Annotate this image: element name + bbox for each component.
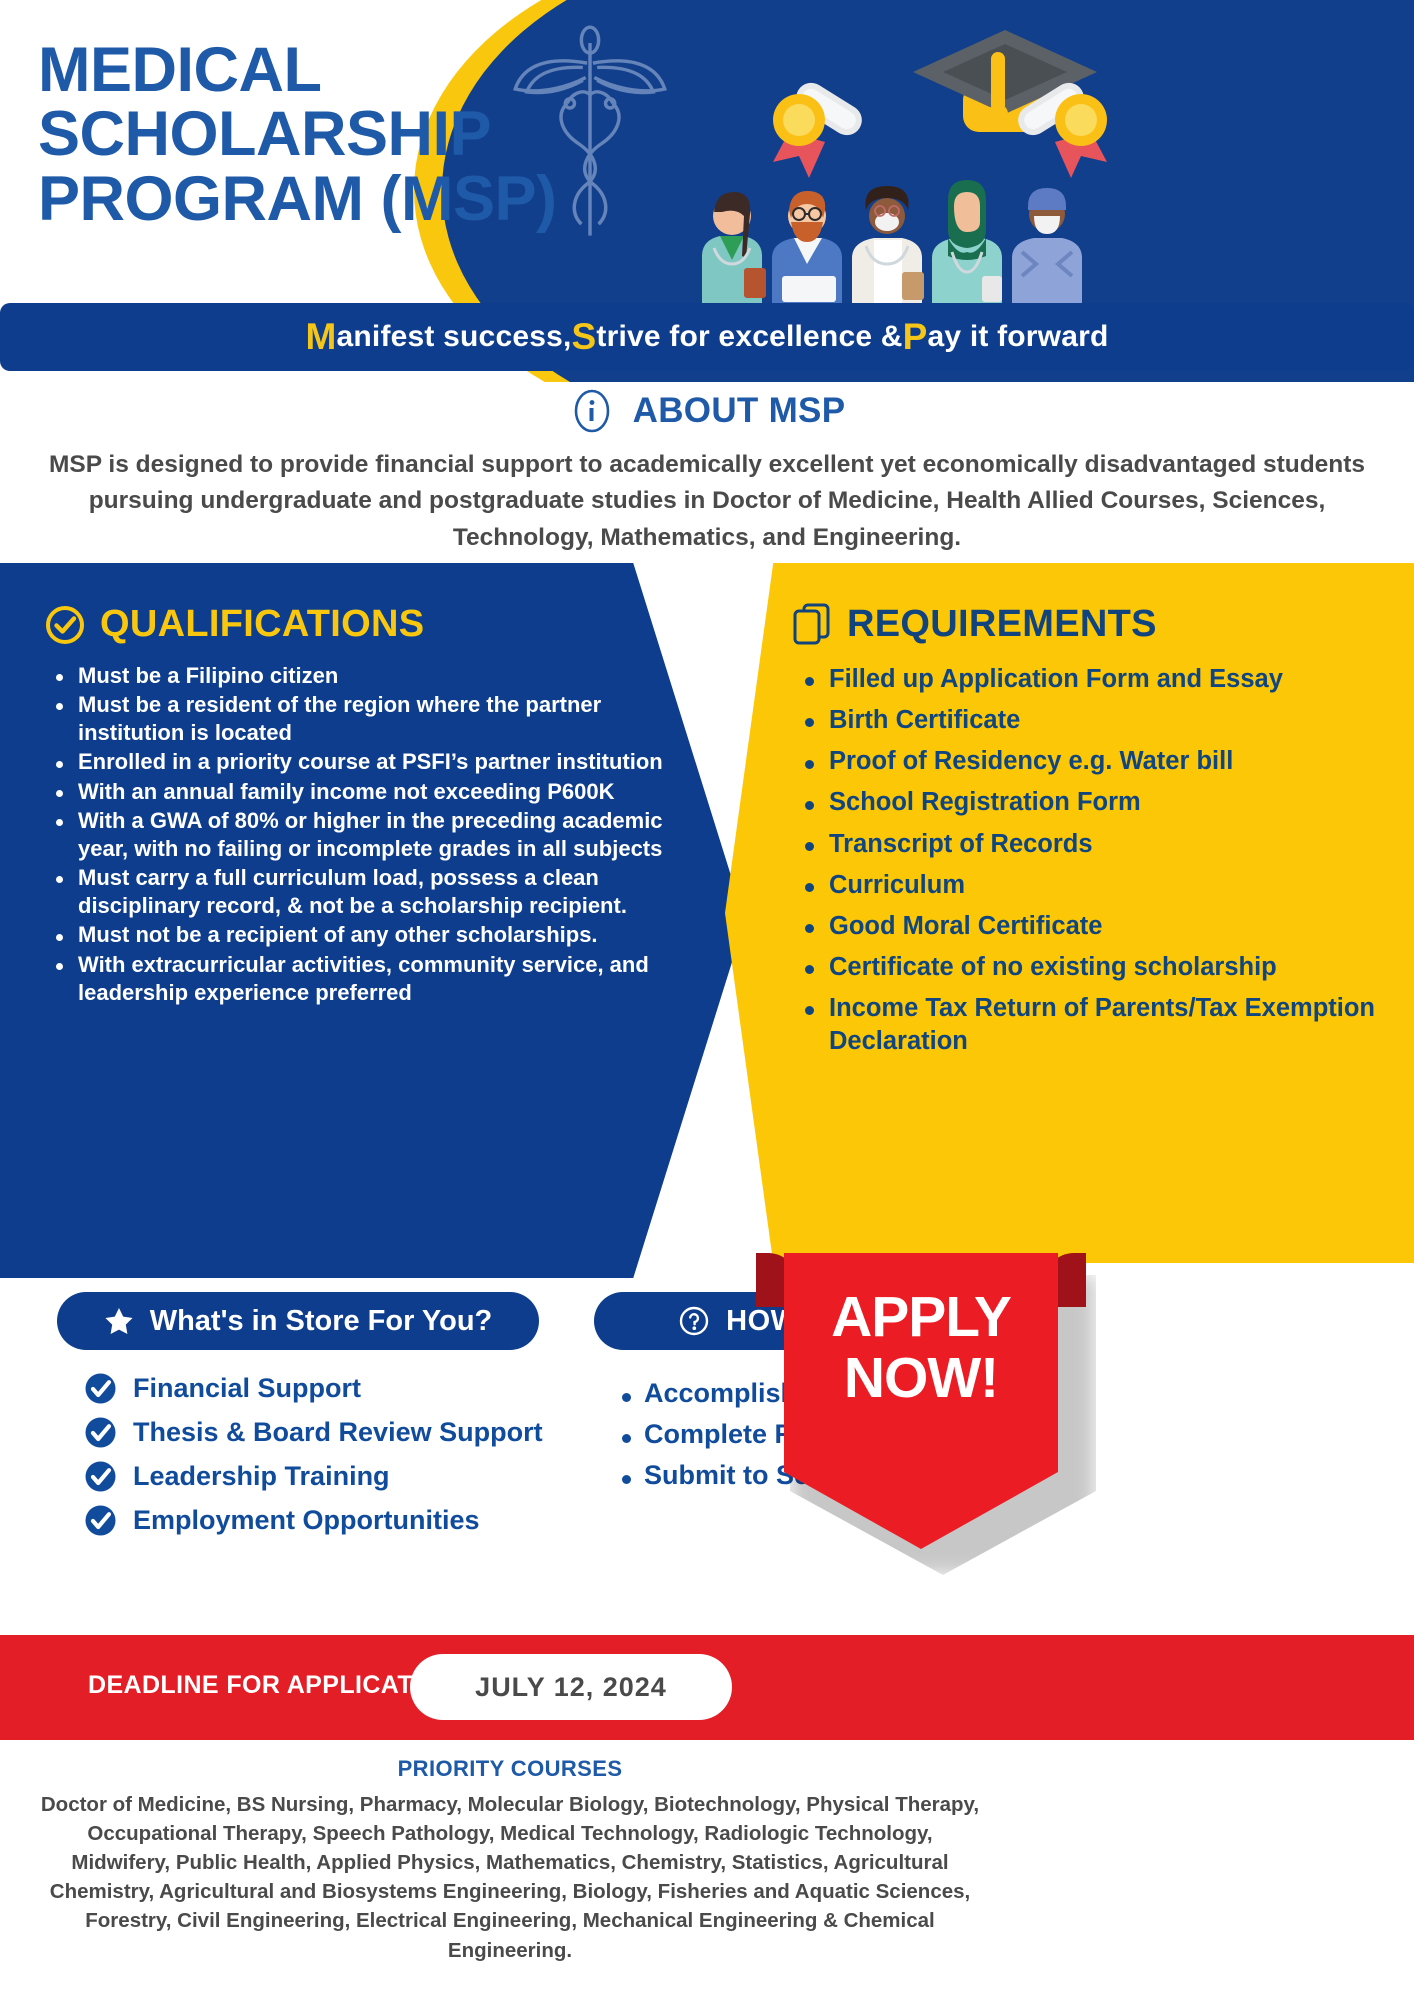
tagline-part-2: trive for excellence & (596, 320, 902, 354)
list-item: Employment Opportunities (84, 1504, 604, 1537)
caduceus-icon (500, 20, 680, 250)
list-item: Filled up Application Form and Essay (791, 663, 1388, 696)
list-item-label: Employment Opportunities (133, 1505, 480, 1536)
list-item: Must be a Filipino citizen (44, 662, 701, 690)
deadline-label: DEADLINE FOR APPLICATION (88, 1671, 459, 1700)
check-circle-icon (44, 604, 86, 646)
title-line-3: PROGRAM (MSP) (38, 167, 556, 231)
list-item: Birth Certificate (791, 704, 1388, 737)
tagline-initial-s: S (572, 316, 597, 358)
qualifications-panel: QUALIFICATIONS Must be a Filipino citize… (0, 563, 745, 1278)
qualifications-heading-row: QUALIFICATIONS (44, 603, 701, 646)
priority-courses-body: Doctor of Medicine, BS Nursing, Pharmacy… (40, 1790, 980, 1965)
deadline-bar: DEADLINE FOR APPLICATION JULY 12, 2024 (0, 1635, 1414, 1740)
question-circle-icon (678, 1305, 710, 1337)
list-item: Curriculum (791, 869, 1388, 902)
star-icon (104, 1306, 134, 1336)
requirements-list: Filled up Application Form and Essay Bir… (791, 663, 1388, 1058)
check-badge-icon (84, 1416, 117, 1449)
requirements-heading-row: REQUIREMENTS (791, 601, 1388, 647)
list-item: With an annual family income not exceedi… (44, 778, 701, 806)
list-item: Enrolled in a priority course at PSFI’s … (44, 748, 701, 776)
list-item: With extracurricular activities, communi… (44, 951, 701, 1007)
list-item-label: Thesis & Board Review Support (133, 1417, 543, 1448)
page-title: MEDICAL SCHOLARSHIP PROGRAM (MSP) (38, 38, 556, 231)
apply-now-line-1: APPLY (831, 1289, 1011, 1346)
qualifications-list: Must be a Filipino citizen Must be a res… (44, 662, 701, 1007)
apply-now-ribbon[interactable]: APPLY NOW! (756, 1253, 1086, 1553)
whats-in-store-pill: What's in Store For You? (57, 1292, 539, 1350)
priority-courses-title: PRIORITY COURSES (0, 1756, 1020, 1782)
list-item: With a GWA of 80% or higher in the prece… (44, 807, 701, 863)
title-line-1: MEDICAL (38, 38, 556, 102)
tagline-banner: Manifest success, Strive for excellence … (0, 303, 1414, 371)
list-item: Financial Support (84, 1372, 604, 1405)
list-item: Must not be a recipient of any other sch… (44, 921, 701, 949)
list-item: Thesis & Board Review Support (84, 1416, 604, 1449)
qualifications-heading: QUALIFICATIONS (100, 603, 424, 646)
tagline-part-1: anifest success, (337, 320, 572, 354)
deadline-date-chip: JULY 12, 2024 (410, 1654, 732, 1720)
list-item: School Registration Form (791, 786, 1388, 819)
tagline-initial-m: M (305, 316, 336, 358)
requirements-panel: REQUIREMENTS Filled up Application Form … (725, 563, 1414, 1263)
list-item: Must carry a full curriculum load, posse… (44, 864, 701, 920)
about-body-text: MSP is designed to provide financial sup… (44, 447, 1370, 556)
tagline-part-3: ay it forward (928, 320, 1109, 354)
about-heading-row: ABOUT MSP (0, 388, 1414, 434)
apply-now-line-2: NOW! (844, 1350, 998, 1407)
qualifications-requirements-band: QUALIFICATIONS Must be a Filipino citize… (0, 563, 1414, 1278)
list-item: Must be a resident of the region where t… (44, 691, 701, 747)
check-badge-icon (84, 1372, 117, 1405)
list-item: Good Moral Certificate (791, 910, 1388, 943)
list-item: Certificate of no existing scholarship (791, 951, 1388, 984)
list-item: Income Tax Return of Parents/Tax Exempti… (791, 992, 1388, 1058)
list-item-label: Leadership Training (133, 1461, 390, 1492)
tagline-initial-p: P (903, 316, 928, 358)
title-line-2: SCHOLARSHIP (38, 102, 556, 166)
documents-icon (791, 601, 833, 647)
list-item: Transcript of Records (791, 828, 1388, 861)
requirements-heading: REQUIREMENTS (847, 603, 1157, 646)
whats-in-store-list: Financial Support Thesis & Board Review … (84, 1372, 604, 1548)
check-badge-icon (84, 1460, 117, 1493)
about-heading: ABOUT MSP (633, 391, 846, 431)
check-badge-icon (84, 1504, 117, 1537)
list-item: Proof of Residency e.g. Water bill (791, 745, 1388, 778)
info-circle-icon (569, 388, 615, 434)
whats-in-store-heading: What's in Store For You? (150, 1305, 493, 1338)
list-item: Leadership Training (84, 1460, 604, 1493)
medical-students-illustration (690, 160, 1110, 305)
list-item-label: Financial Support (133, 1373, 361, 1404)
